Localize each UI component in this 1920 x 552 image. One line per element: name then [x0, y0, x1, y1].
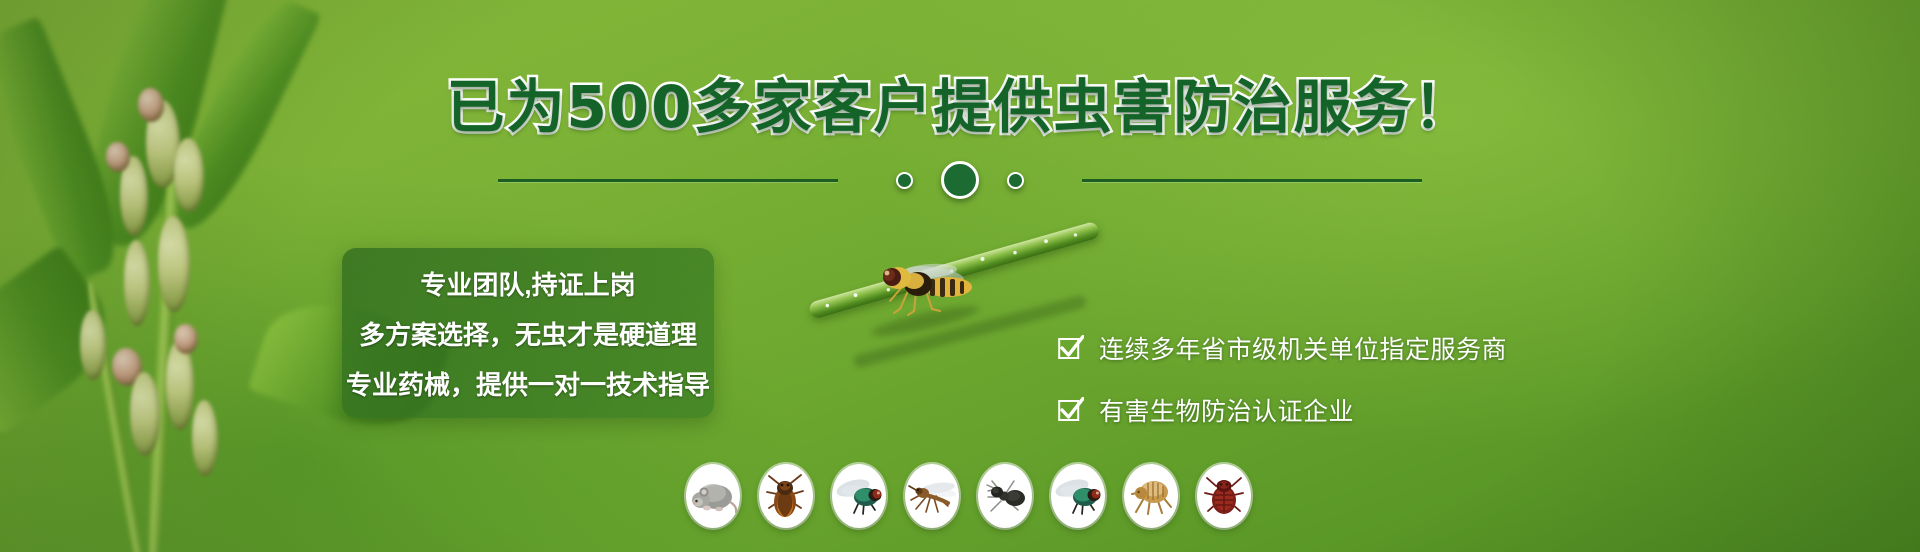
blowfly-icon: [1054, 475, 1102, 517]
rat-icon: [689, 476, 737, 516]
bedbug-icon: [1203, 473, 1245, 519]
certification-checklist: 连续多年省市级机关单位指定服务商 有害生物防治认证企业: [1058, 330, 1507, 428]
pest-icon-cockroach[interactable]: [759, 464, 813, 528]
fly-icon: [835, 475, 883, 517]
divider-dot-small-left: [896, 172, 913, 189]
flea-icon: [1128, 474, 1174, 518]
divider-dot-large: [941, 161, 979, 199]
ant-icon: [982, 475, 1028, 517]
pest-icon-flea[interactable]: [1124, 464, 1178, 528]
pest-icon-ant[interactable]: [978, 464, 1032, 528]
selling-points-panel: 专业团队,持证上岗 多方案选择，无虫才是硬道理 专业药械，提供一对一技术指导: [342, 248, 714, 418]
checklist-item-label: 有害生物防治认证企业: [1099, 392, 1354, 428]
divider-dot-small-right: [1007, 172, 1024, 189]
hoverfly-icon: [856, 251, 986, 317]
pest-icon-fly[interactable]: [832, 464, 886, 528]
selling-point-line-2: 多方案选择，无虫才是硬道理: [359, 315, 697, 352]
insect-shadow: [870, 301, 981, 341]
pest-icon-bedbug[interactable]: [1197, 464, 1251, 528]
divider-line-left: [498, 179, 838, 182]
selling-point-line-1: 专业团队,持证上岗: [420, 265, 635, 302]
mosquito-icon: [908, 475, 956, 517]
divider-line-right: [1082, 179, 1422, 182]
pest-icon-blowfly[interactable]: [1051, 464, 1105, 528]
pest-icon-mosquito[interactable]: [905, 464, 959, 528]
checklist-item: 连续多年省市级机关单位指定服务商: [1058, 330, 1507, 366]
stem-shadow: [852, 294, 1087, 369]
checkbox-checked-icon: [1058, 335, 1084, 361]
pest-icon-rat[interactable]: [686, 464, 740, 528]
dew-droplets: [808, 223, 1099, 316]
checkbox-checked-icon: [1058, 397, 1084, 423]
checklist-item: 有害生物防治认证企业: [1058, 392, 1507, 428]
decorative-divider: [0, 160, 1920, 200]
plant-stem: [808, 221, 1101, 320]
selling-point-line-3: 专业药械，提供一对一技术指导: [346, 365, 710, 402]
pest-type-strip: [686, 464, 1251, 528]
cockroach-icon: [765, 472, 807, 520]
page-title: 已为500多家客户提供虫害防治服务！: [0, 78, 1920, 136]
promo-banner: 已为500多家客户提供虫害防治服务！ 专业团队,持证上岗 多方案选择，无虫才是硬…: [0, 0, 1920, 552]
checklist-item-label: 连续多年省市级机关单位指定服务商: [1099, 330, 1507, 366]
